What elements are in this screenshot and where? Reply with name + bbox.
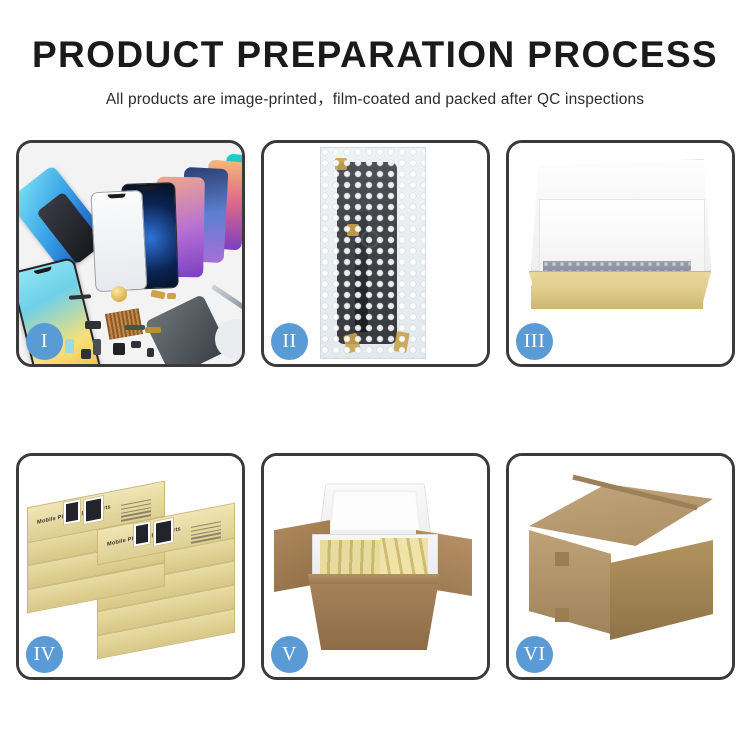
logic-board-component xyxy=(105,308,143,340)
tweezers-icon xyxy=(211,284,242,311)
page-subtitle: All products are image-printed，film-coat… xyxy=(0,87,750,109)
spare-part xyxy=(167,293,176,299)
process-step-panel-5[interactable]: V xyxy=(261,453,490,680)
step-badge-5: V xyxy=(271,636,308,673)
page-title: PRODUCT PREPARATION PROCESS xyxy=(0,36,750,73)
wrapped-screen-assembly xyxy=(337,162,397,344)
process-step-panel-4[interactable]: Mobile Phone Spare Parts Mobile Phone Sp… xyxy=(16,453,245,680)
spare-part xyxy=(150,290,165,300)
process-step-panel-1[interactable]: I xyxy=(16,140,245,367)
notch-icon xyxy=(139,186,157,191)
step-badge-1: I xyxy=(26,323,63,360)
notch-icon xyxy=(108,194,126,199)
box-art-screen xyxy=(83,495,104,525)
gold-connector xyxy=(343,333,361,354)
tape-mark xyxy=(555,608,569,622)
box-art-screen xyxy=(63,498,81,525)
process-step-panel-3[interactable]: III xyxy=(506,140,735,367)
carton-top-face xyxy=(529,484,713,546)
header: PRODUCT PREPARATION PROCESS All products… xyxy=(0,0,750,109)
spare-part xyxy=(125,325,145,330)
phone-glass-panel xyxy=(90,190,147,293)
gold-connector xyxy=(335,158,347,170)
process-panel-grid: I II xyxy=(16,140,734,680)
spare-part xyxy=(85,321,101,329)
box-stack: Mobile Phone Spare Parts Mobile Phone Sp… xyxy=(25,470,237,666)
speaker-component xyxy=(111,286,127,302)
spare-part xyxy=(131,341,141,348)
foam-lid xyxy=(318,484,432,541)
box-art-screen xyxy=(153,517,174,547)
spare-part xyxy=(69,294,91,300)
box-art-screen xyxy=(133,520,151,547)
kraft-box-front xyxy=(531,285,703,309)
carton-right-face xyxy=(610,540,713,640)
process-step-panel-6[interactable]: VI xyxy=(506,453,735,680)
tape-mark xyxy=(555,552,569,566)
step-badge-3: III xyxy=(516,323,553,360)
product-preparation-infographic: PRODUCT PREPARATION PROCESS All products… xyxy=(0,0,750,750)
gold-connector xyxy=(347,224,359,236)
gold-connector xyxy=(393,331,409,353)
camera-hole-icon xyxy=(361,230,379,248)
spare-part xyxy=(93,339,101,355)
process-step-panel-2[interactable]: II xyxy=(261,140,490,367)
bubble-wrap-bag xyxy=(320,147,426,359)
notch-icon xyxy=(34,266,52,274)
spare-part xyxy=(81,349,91,359)
step-badge-6: VI xyxy=(516,636,553,673)
carton-left-face xyxy=(529,530,611,634)
shipping-carton-body xyxy=(308,574,440,650)
packed-retail-boxes xyxy=(320,540,428,578)
flex-cable xyxy=(355,212,368,332)
step-badge-2: II xyxy=(271,323,308,360)
spare-part xyxy=(147,348,154,357)
step-badge-4: IV xyxy=(26,636,63,673)
spare-part xyxy=(65,339,74,353)
spare-part xyxy=(145,327,161,333)
spare-part xyxy=(113,343,125,355)
